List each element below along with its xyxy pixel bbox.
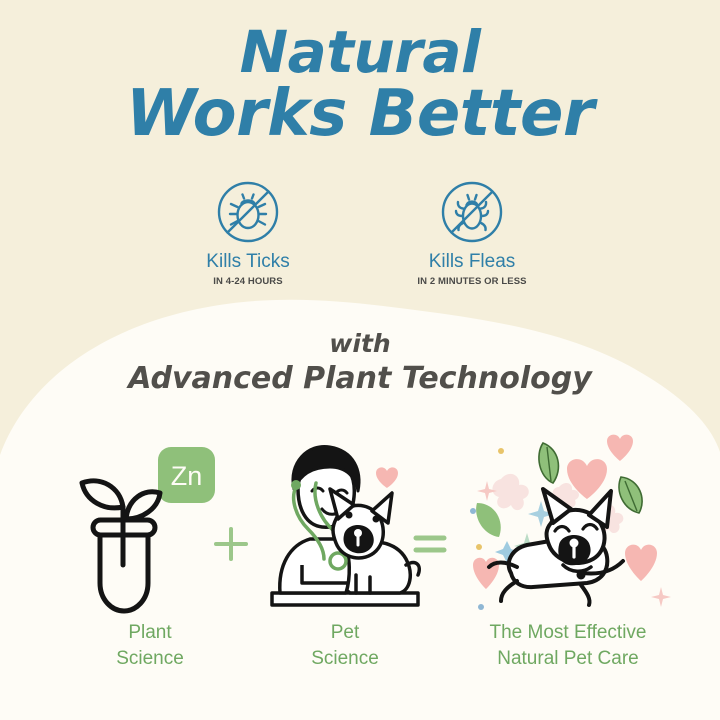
subhead: with Advanced Plant Technology bbox=[0, 330, 720, 397]
claim-kills-ticks: Kills Ticks IN 4-24 HOURS bbox=[168, 178, 328, 287]
zn-badge-label: Zn bbox=[171, 461, 203, 491]
plus-operator-icon bbox=[208, 521, 254, 567]
claim-subtitle: IN 4-24 HOURS bbox=[168, 276, 328, 287]
claims-row: Kills Ticks IN 4-24 HOURS bbox=[0, 178, 720, 287]
heart-decoration bbox=[376, 467, 398, 488]
no-flea-icon bbox=[438, 178, 506, 246]
caption-line-1: Pet bbox=[331, 622, 360, 643]
caption-line-2: Science bbox=[116, 648, 184, 669]
caption-pet-science: Pet Science bbox=[250, 620, 440, 671]
poster-root: Natural Works Better bbox=[0, 0, 720, 720]
subhead-big: Advanced Plant Technology bbox=[0, 360, 720, 398]
equation-item-outcome bbox=[455, 425, 685, 625]
page-title: Natural Works Better bbox=[0, 24, 720, 146]
caption-line-2: Natural Pet Care bbox=[497, 648, 639, 669]
claim-title: Kills Ticks bbox=[168, 252, 328, 273]
equals-operator-icon bbox=[407, 521, 453, 567]
headline-line-1: Natural bbox=[0, 24, 720, 81]
caption-outcome: The Most Effective Natural Pet Care bbox=[448, 620, 688, 671]
equation-row: Zn bbox=[0, 425, 720, 625]
no-tick-icon bbox=[214, 178, 282, 246]
claim-title: Kills Fleas bbox=[392, 252, 552, 273]
happy-leaping-dog-icon bbox=[455, 425, 685, 625]
captions-row: Plant Science Pet Science The Most Effec… bbox=[0, 620, 720, 690]
claim-subtitle: IN 2 MINUTES OR LESS bbox=[392, 276, 552, 287]
subhead-small: with bbox=[0, 330, 720, 359]
headline-line-2: Works Better bbox=[0, 83, 720, 146]
caption-line-1: Plant bbox=[128, 622, 171, 643]
caption-line-2: Science bbox=[311, 648, 379, 669]
claim-kills-fleas: Kills Fleas IN 2 MINUTES OR LESS bbox=[392, 178, 552, 287]
caption-plant-science: Plant Science bbox=[60, 620, 240, 671]
caption-line-1: The Most Effective bbox=[490, 622, 647, 643]
